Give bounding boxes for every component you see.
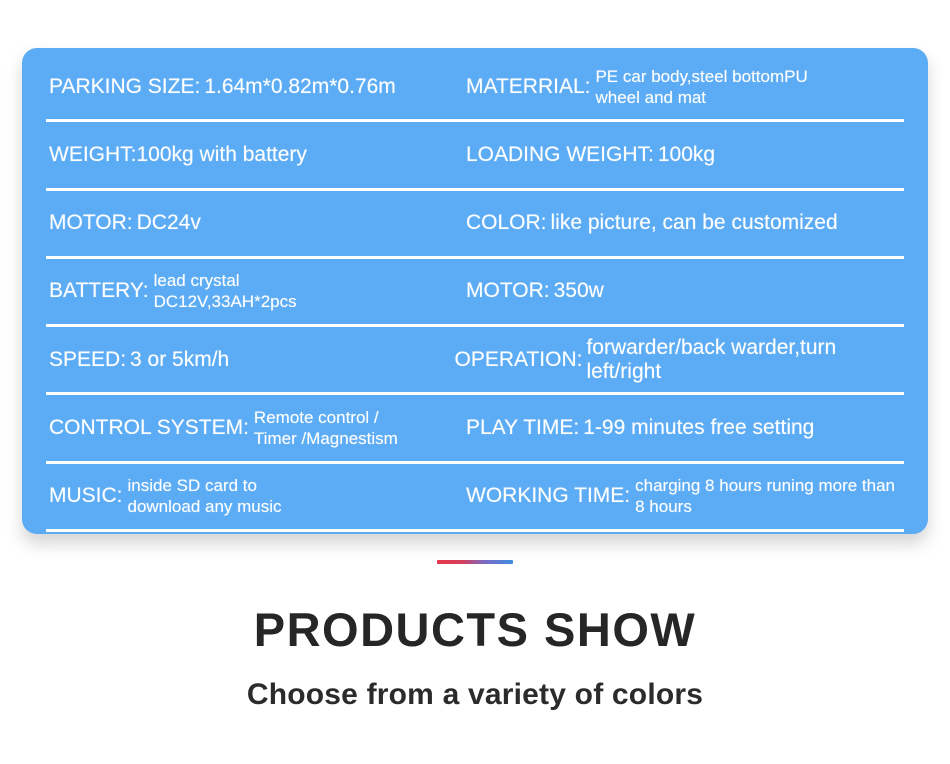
spec-value: 1-99 minutes free setting <box>579 416 814 440</box>
spec-label: LOADING WEIGHT: <box>466 143 654 167</box>
spec-cell-right: WORKING TIME: charging 8 hours runing mo… <box>466 464 904 529</box>
promo-section: PRODUCTS SHOW Choose from a variety of c… <box>0 560 950 712</box>
spec-label: MUSIC: <box>49 484 123 508</box>
spec-row: MOTOR: DC24v COLOR: like picture, can be… <box>46 191 904 259</box>
spec-value: forwarder/back warder,turn left/right <box>582 336 904 384</box>
spec-value: DC24v <box>133 211 201 235</box>
spec-value-line: Timer /Magnestism <box>254 428 398 449</box>
spec-value: 1.64m*0.82m*0.76m <box>200 75 395 99</box>
spec-row: MUSIC: inside SD card to download any mu… <box>46 464 904 532</box>
spec-cell-left: WEIGHT:100kg with battery <box>46 122 466 187</box>
spec-value-line: download any music <box>128 496 282 517</box>
spec-cell-left: CONTROL SYSTEM: Remote control / Timer /… <box>46 395 466 460</box>
spec-cell-left: BATTERY: lead crystal DC12V,33AH*2pcs <box>46 259 466 324</box>
spec-value-line: charging 8 hours runing more than <box>635 475 895 496</box>
specification-panel: PARKING SIZE: 1.64m*0.82m*0.76m MATERRIA… <box>22 48 928 534</box>
page-subtitle: Choose from a variety of colors <box>0 678 950 712</box>
spec-row: CONTROL SYSTEM: Remote control / Timer /… <box>46 395 904 463</box>
spec-label: BATTERY: <box>49 279 149 303</box>
spec-label: SPEED: <box>49 348 126 372</box>
page-title: PRODUCTS SHOW <box>0 604 950 656</box>
spec-value: inside SD card to download any music <box>123 475 282 517</box>
spec-value-line: 8 hours <box>635 496 895 517</box>
spec-cell-left: MOTOR: DC24v <box>46 191 466 256</box>
spec-label: PLAY TIME: <box>466 416 579 440</box>
spec-label: WORKING TIME: <box>466 484 630 508</box>
specification-rows: PARKING SIZE: 1.64m*0.82m*0.76m MATERRIA… <box>46 48 904 534</box>
spec-row: PARKING SIZE: 1.64m*0.82m*0.76m MATERRIA… <box>46 54 904 122</box>
spec-cell-right: MOTOR: 350w <box>466 259 904 324</box>
spec-row: SPEED: 3 or 5km/h OPERATION: forwarder/b… <box>46 327 904 395</box>
spec-value: Remote control / Timer /Magnestism <box>249 407 398 449</box>
spec-row: BATTERY: lead crystal DC12V,33AH*2pcs MO… <box>46 259 904 327</box>
spec-label: WEIGHT:100kg with battery <box>49 143 307 167</box>
spec-cell-right: COLOR: like picture, can be customized <box>466 191 904 256</box>
spec-cell-right: PLAY TIME: 1-99 minutes free setting <box>466 395 904 460</box>
spec-value-line: inside SD card to <box>128 475 282 496</box>
spec-label: MOTOR: <box>49 211 133 235</box>
spec-value-line: PE car body,steel bottomPU <box>595 66 807 87</box>
spec-value: charging 8 hours runing more than 8 hour… <box>630 475 895 517</box>
spec-value: 350w <box>550 279 604 303</box>
spec-label: OPERATION: <box>454 348 582 372</box>
spec-row: WEIGHT:100kg with battery LOADING WEIGHT… <box>46 122 904 190</box>
spec-cell-left: MUSIC: inside SD card to download any mu… <box>46 464 466 529</box>
spec-label: MOTOR: <box>466 279 550 303</box>
spec-value: 3 or 5km/h <box>126 348 229 372</box>
gradient-divider <box>437 560 513 564</box>
spec-value: lead crystal DC12V,33AH*2pcs <box>149 270 297 312</box>
spec-cell-right: MATERRIAL: PE car body,steel bottomPU wh… <box>466 54 904 119</box>
spec-value-line: DC12V,33AH*2pcs <box>154 291 297 312</box>
spec-cell-right: LOADING WEIGHT: 100kg <box>466 122 904 187</box>
spec-value: 100kg <box>654 143 715 167</box>
spec-cell-right: OPERATION: forwarder/back warder,turn le… <box>454 327 904 392</box>
spec-cell-left: SPEED: 3 or 5km/h <box>46 327 454 392</box>
spec-value-line: lead crystal <box>154 270 297 291</box>
spec-value-line: Remote control / <box>254 407 398 428</box>
spec-value: like picture, can be customized <box>547 211 838 235</box>
spec-value: PE car body,steel bottomPU wheel and mat <box>590 66 807 108</box>
spec-cell-left: PARKING SIZE: 1.64m*0.82m*0.76m <box>46 54 466 119</box>
spec-label: PARKING SIZE: <box>49 75 200 99</box>
spec-label: MATERRIAL: <box>466 75 590 99</box>
spec-label: CONTROL SYSTEM: <box>49 416 249 440</box>
spec-label: COLOR: <box>466 211 547 235</box>
spec-value-line: wheel and mat <box>595 87 807 108</box>
